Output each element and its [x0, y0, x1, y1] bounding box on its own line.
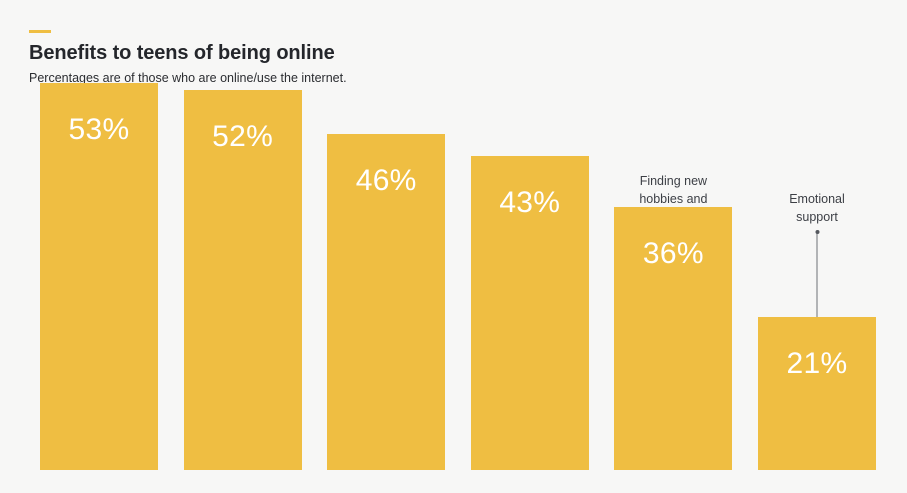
bar-value-label: 52% [184, 120, 302, 154]
bar[interactable]: 36% [614, 207, 732, 470]
bar[interactable]: 21% [758, 317, 876, 470]
chart-container: Benefits to teens of being online Percen… [0, 0, 907, 493]
bar-value-label: 43% [471, 186, 589, 220]
bar-value-label: 21% [758, 347, 876, 381]
bar-category-label: Emotional support [742, 190, 892, 226]
bar[interactable]: 43% [471, 156, 589, 470]
bar-group: Learning new things46% [327, 0, 445, 493]
bar-group: Finding new hobbies and interests36% [614, 0, 732, 493]
bar-group: Keeping in touch with friends and family… [184, 0, 302, 493]
bar-value-label: 46% [327, 164, 445, 198]
bar[interactable]: 53% [40, 83, 158, 470]
bar-chart-plot: Leisure/ Entertainment53%Keeping in touc… [0, 0, 907, 493]
bar-value-label: 36% [614, 237, 732, 271]
bar[interactable]: 52% [184, 90, 302, 470]
bar-value-label: 53% [40, 113, 158, 147]
bar-group: Emotional support21% [758, 0, 876, 493]
label-connector-line [817, 232, 818, 317]
bar[interactable]: 46% [327, 134, 445, 470]
bar-group: Leisure/ Entertainment53% [40, 0, 158, 493]
bar-group: Keeping up with news and interests etc.4… [471, 0, 589, 493]
